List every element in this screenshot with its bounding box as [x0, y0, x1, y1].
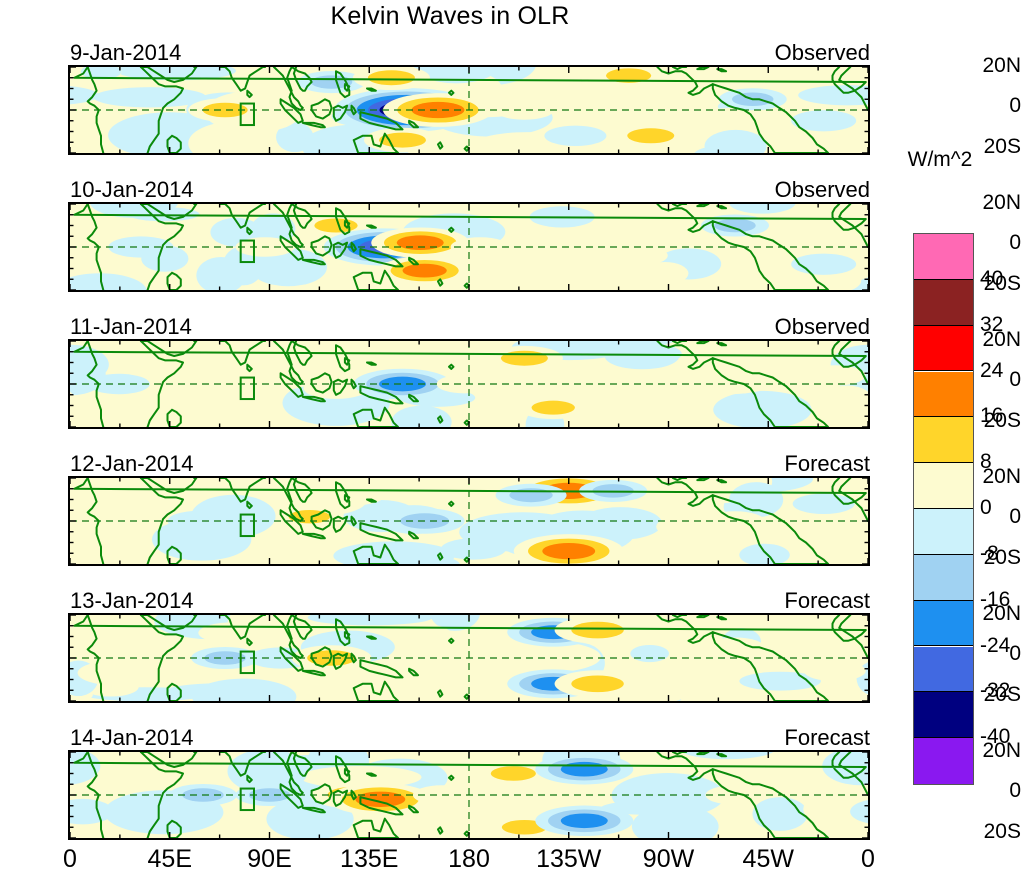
map-frame — [68, 476, 870, 566]
longitude-label-0: 0 — [63, 845, 77, 874]
colorbar-tick--16: -16 — [980, 588, 1010, 612]
panel-1: 9-Jan-2014Observed20N020S — [0, 40, 1021, 177]
anomaly-blob — [706, 344, 816, 371]
colorbar-tick-24: 24 — [980, 359, 1003, 383]
anomaly-contour — [349, 665, 411, 685]
anomaly-contour — [368, 70, 415, 85]
colorbar-band-5 — [914, 463, 973, 509]
anomaly-contour — [542, 543, 595, 559]
panel-kind-label: Forecast — [0, 588, 870, 614]
colorbar-tick-40: 40 — [980, 267, 1003, 291]
anomaly-contour — [403, 264, 447, 278]
anomaly-contour — [804, 365, 866, 385]
map-frame — [68, 750, 870, 840]
anomaly-contour — [501, 351, 548, 366]
colorbar-tick--40: -40 — [980, 725, 1010, 749]
panel-kind-label: Observed — [0, 314, 870, 340]
map-canvas — [70, 67, 868, 153]
longitude-label-90W: 90W — [643, 845, 694, 874]
anomaly-contour — [571, 622, 623, 639]
longitude-label-45E: 45E — [148, 845, 192, 874]
latitude-label-0: 0 — [959, 94, 1021, 118]
map-canvas — [70, 204, 868, 290]
colorbar-tick--24: -24 — [980, 634, 1010, 658]
latitude-label-20N: 20N — [959, 54, 1021, 78]
colorbar-band-1 — [914, 280, 973, 326]
colorbar-band-6 — [914, 509, 973, 555]
panel-6: 14-Jan-2014Forecast20N020S — [0, 725, 1021, 862]
longitude-label-180: 180 — [448, 845, 490, 874]
anomaly-contour — [441, 538, 506, 559]
anomaly-contour — [804, 661, 866, 681]
colorbar: W/m^2 4032241680-8-16-24-32-40 — [880, 140, 1021, 840]
anomaly-blob — [579, 507, 662, 540]
map-frame — [68, 202, 870, 292]
anomaly-contour — [627, 128, 674, 143]
map-frame — [68, 339, 870, 429]
kelvin-wave-olr-figure: Kelvin Waves in OLR 9-Jan-2014Observed20… — [0, 0, 1021, 887]
map-canvas — [70, 615, 868, 701]
map-canvas — [70, 752, 868, 838]
anomaly-contour — [603, 245, 668, 266]
panel-4: 12-Jan-2014Forecast20N020S — [0, 451, 1021, 588]
figure-title: Kelvin Waves in OLR — [0, 2, 900, 31]
anomaly-blob — [94, 87, 207, 107]
colorbar-tick--32: -32 — [980, 679, 1010, 703]
longitude-label-90E: 90E — [247, 845, 291, 874]
map-frame — [68, 65, 870, 155]
anomaly-blob — [96, 497, 149, 512]
panel-kind-label: Observed — [0, 40, 870, 66]
map-canvas — [70, 341, 868, 427]
longitude-label-0: 0 — [861, 845, 875, 874]
colorbar-band-11 — [914, 738, 973, 784]
longitude-axis: 045E90E135E180135W90W45W0 — [0, 845, 1021, 887]
anomaly-blob — [630, 645, 669, 662]
anomaly-contour — [314, 219, 357, 233]
colorbar-bands — [913, 233, 974, 785]
panel-kind-label: Forecast — [0, 725, 870, 751]
colorbar-tick--8: -8 — [980, 542, 999, 566]
colorbar-band-0 — [914, 234, 973, 280]
colorbar-band-10 — [914, 692, 973, 738]
colorbar-band-2 — [914, 326, 973, 372]
anomaly-contour — [397, 235, 444, 250]
anomaly-contour — [561, 813, 608, 828]
panel-5: 13-Jan-2014Forecast20N020S — [0, 588, 1021, 725]
colorbar-band-8 — [914, 601, 973, 647]
panel-3: 11-Jan-2014Observed20N020S — [0, 314, 1021, 451]
map-frame — [68, 613, 870, 703]
colorbar-tick-8: 8 — [980, 450, 992, 474]
colorbar-band-3 — [914, 372, 973, 418]
anomaly-blob — [642, 262, 689, 285]
anomaly-contour — [491, 766, 536, 780]
longitude-label-135W: 135W — [536, 845, 601, 874]
colorbar-band-9 — [914, 647, 973, 693]
anomaly-contour — [561, 762, 608, 777]
anomaly-contour — [714, 219, 755, 232]
anomaly-contour — [544, 126, 606, 146]
colorbar-units-label: W/m^2 — [880, 148, 1000, 172]
anomaly-blob — [656, 517, 699, 537]
anomaly-blob — [752, 797, 807, 831]
colorbar-tick-32: 32 — [980, 313, 1003, 337]
longitude-label-45W: 45W — [743, 845, 794, 874]
colorbar-tick-16: 16 — [980, 404, 1003, 428]
colorbar-band-7 — [914, 555, 973, 601]
panel-kind-label: Forecast — [0, 451, 870, 477]
anomaly-contour — [532, 401, 575, 415]
map-canvas — [70, 478, 868, 564]
anomaly-contour — [571, 676, 623, 693]
colorbar-band-4 — [914, 417, 973, 463]
colorbar-tick-0: 0 — [980, 496, 992, 520]
panel-2: 10-Jan-2014Observed20N020S — [0, 177, 1021, 314]
longitude-label-135E: 135E — [340, 845, 398, 874]
panel-kind-label: Observed — [0, 177, 870, 203]
